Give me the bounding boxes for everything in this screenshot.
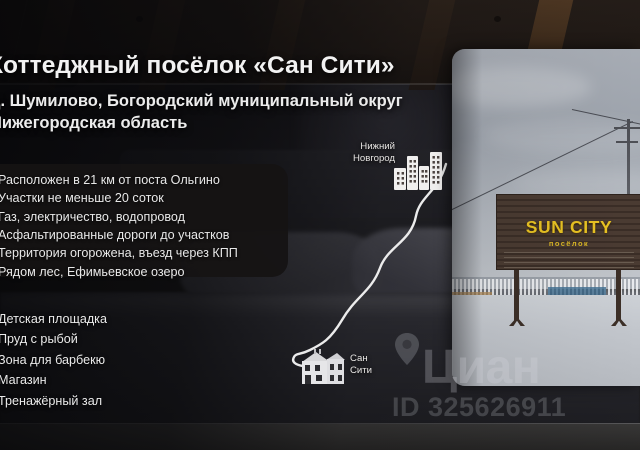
destination-label-line-2: Сити: [350, 365, 410, 377]
billboard-photo: SUN CITY посёлок: [452, 49, 640, 386]
city-label: Нижний Новгород: [325, 141, 395, 166]
list-item: Расположен в 21 км от поста Ольгино: [0, 171, 298, 189]
list-item: Магазин: [0, 370, 258, 390]
house-icon: [296, 348, 346, 386]
city-label-line-1: Нижний: [325, 141, 395, 153]
features-list: Расположен в 21 км от поста Ольгино Учас…: [0, 171, 298, 281]
amenities-list: Детская площадка Пруд с рыбой Зона для б…: [0, 309, 258, 411]
list-item: Пруд с рыбой: [0, 329, 258, 349]
location-subtitle: д. Шумилово, Богородский муниципальный о…: [0, 91, 460, 135]
list-item: Рядом лес, Ефимьевское озеро: [0, 263, 298, 281]
location-line-2: Нижегородская область: [0, 113, 460, 135]
photo-edge-shadow: [452, 49, 640, 386]
location-line-1: д. Шумилово, Богородский муниципальный о…: [0, 91, 460, 113]
listing-promo-image: Коттеджный посёлок «Сан Сити» д. Шумилов…: [0, 0, 640, 450]
list-item: Территория огорожена, въезд через КПП: [0, 244, 298, 262]
list-item: Тренажёрный зал: [0, 391, 258, 411]
list-item: Зона для барбекю: [0, 350, 258, 370]
page-title: Коттеджный посёлок «Сан Сити»: [0, 52, 458, 80]
list-item: Асфальтированные дороги до участков: [0, 226, 298, 244]
list-item: Детская площадка: [0, 309, 258, 329]
list-item: Газ, электричество, водопровод: [0, 208, 298, 226]
city-buildings-icon: [392, 142, 444, 192]
list-item: Участки не меньше 20 соток: [0, 189, 298, 207]
city-label-line-2: Новгород: [325, 153, 395, 165]
destination-label-line-1: Сан: [350, 353, 410, 365]
destination-label: Сан Сити: [350, 353, 410, 378]
